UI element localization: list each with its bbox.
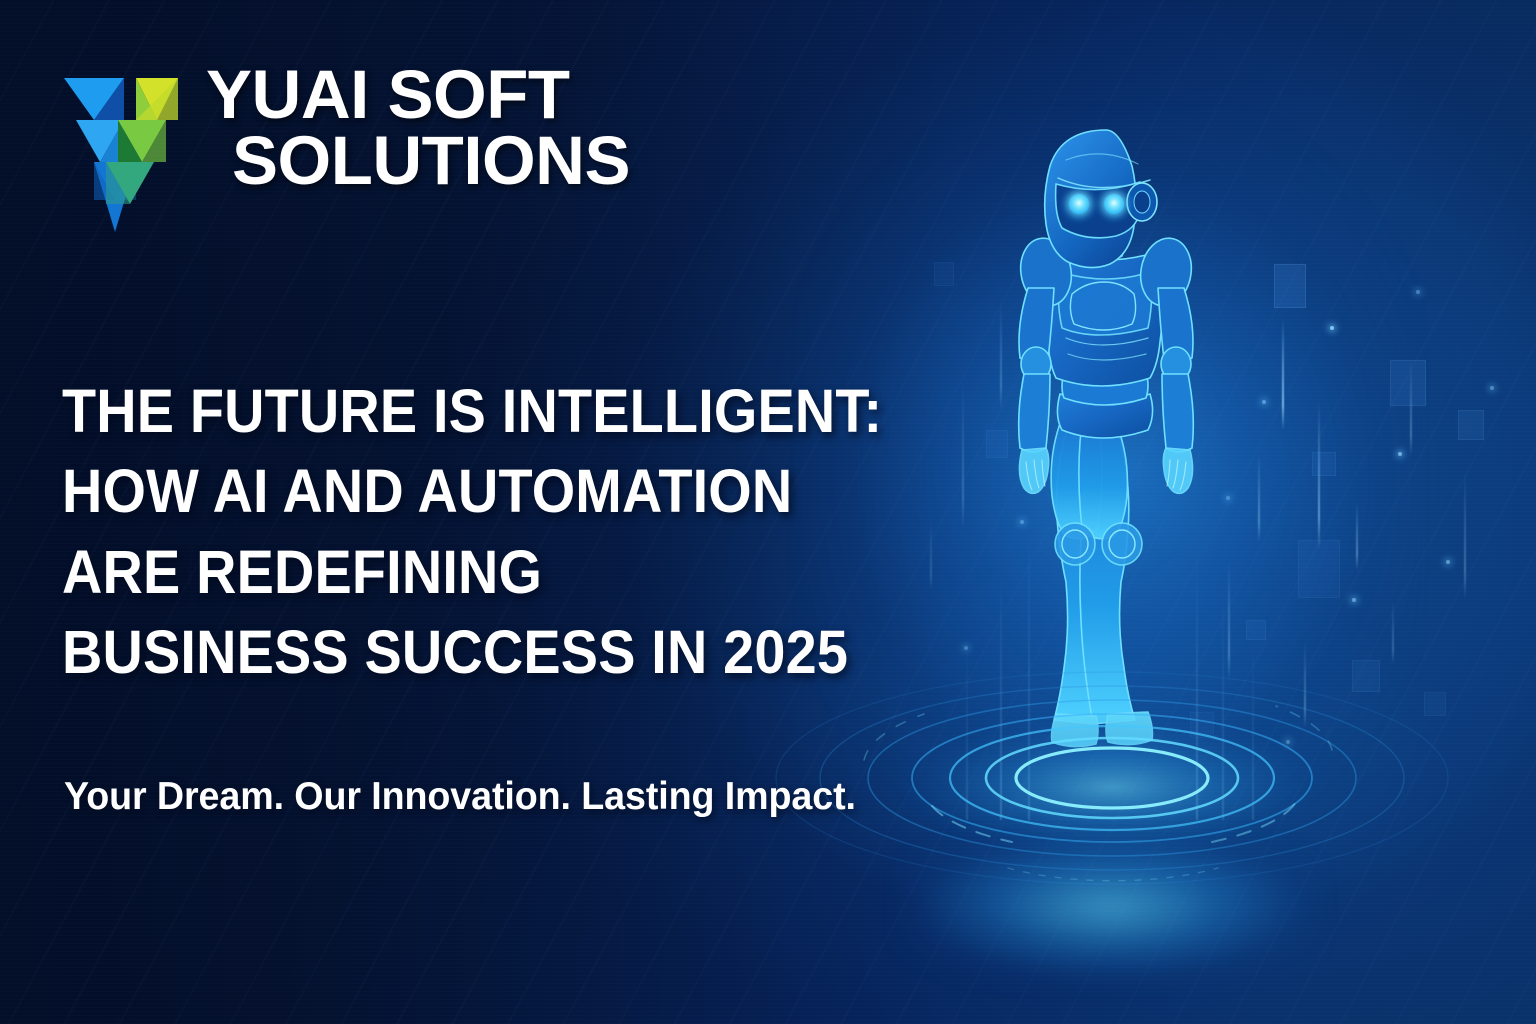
yuai-v-triangles-logo-icon (62, 70, 180, 238)
platform-bloom (900, 832, 1320, 982)
headline-line-1: THE FUTURE IS INTELLIGENT: (62, 371, 977, 452)
headline-line-3: ARE REDEFINING (62, 532, 977, 613)
banner-canvas: YUAI SOFT SOLUTIONS THE FUTURE IS INTELL… (0, 0, 1536, 1024)
headline-line-2: HOW AI AND AUTOMATION (62, 451, 977, 532)
headline-line-4: BUSINESS SUCCESS IN 2025 (62, 612, 977, 693)
tagline: Your Dream. Our Innovation. Lasting Impa… (64, 775, 856, 819)
brand-wordmark: YUAI SOFT SOLUTIONS (206, 62, 630, 194)
brand-name-line-1: YUAI SOFT (206, 62, 630, 128)
brand-name-line-2: SOLUTIONS (206, 128, 630, 194)
headline: THE FUTURE IS INTELLIGENT: HOW AI AND AU… (62, 371, 977, 693)
brand-logo[interactable]: YUAI SOFT SOLUTIONS (62, 62, 630, 238)
